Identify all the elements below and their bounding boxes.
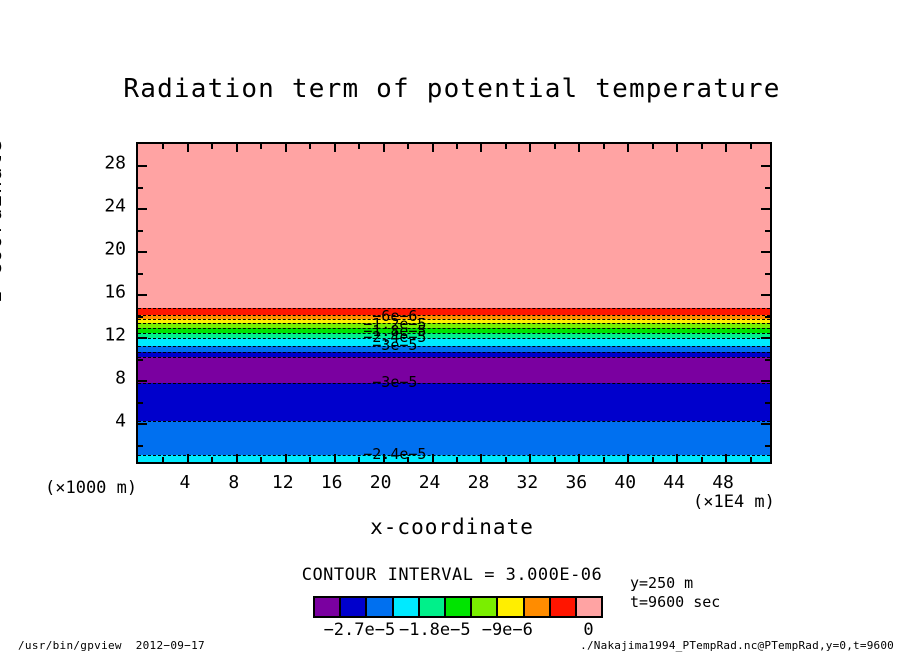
page-title: Radiation term of potential temperature — [0, 74, 904, 104]
x-axis-tick-top — [432, 144, 434, 152]
x-axis-tick-top — [725, 144, 727, 152]
contour-line — [138, 319, 770, 320]
x-axis-tick — [407, 457, 409, 462]
x-tick-label: 44 — [663, 472, 685, 493]
y-axis-tick — [138, 337, 147, 339]
contour-line — [138, 333, 770, 334]
y-axis-tick-right — [761, 380, 770, 382]
y-tick-label: 24 — [88, 196, 126, 217]
colorbar-swatch[interactable] — [551, 598, 577, 616]
x-axis-tick-top — [578, 144, 580, 152]
x-axis-tick-top — [750, 144, 752, 149]
x-axis-tick — [725, 454, 727, 462]
colorbar-swatch[interactable] — [315, 598, 341, 616]
contour-line — [138, 352, 770, 353]
x-axis-tick — [676, 454, 678, 462]
x-axis-tick-top — [285, 144, 287, 152]
y-axis-tick — [138, 294, 147, 296]
colorbar-swatch[interactable] — [577, 598, 601, 616]
y-axis-tick-right — [765, 316, 770, 318]
x-axis-tick-top — [554, 144, 556, 149]
y-tick-label: 12 — [88, 325, 126, 346]
x-tick-label: 40 — [614, 472, 636, 493]
x-tick-label: 36 — [565, 472, 587, 493]
x-axis-tick-top — [603, 144, 605, 149]
x-axis-tick — [383, 454, 385, 462]
x-tick-label: 24 — [419, 472, 441, 493]
x-tick-label: 4 — [180, 472, 191, 493]
x-axis-tick — [187, 454, 189, 462]
x-axis-tick — [309, 457, 311, 462]
x-axis-tick-top — [480, 144, 482, 152]
colorbar-swatch[interactable] — [367, 598, 393, 616]
color-band — [138, 383, 770, 421]
y-axis-tick-right — [761, 423, 770, 425]
colorbar-swatch[interactable] — [341, 598, 367, 616]
y-tick-label: 8 — [88, 368, 126, 389]
y-axis-tick-right — [765, 187, 770, 189]
x-axis-tick-top — [652, 144, 654, 149]
y-axis-tick — [138, 359, 143, 361]
x-axis-tick — [750, 457, 752, 462]
x-tick-label: 32 — [517, 472, 539, 493]
y-tick-label: 16 — [88, 282, 126, 303]
contour-value-label: −2.4e−5 — [363, 445, 426, 463]
contour-line — [138, 328, 770, 329]
x-tick-label: 20 — [370, 472, 392, 493]
x-tick-label: 16 — [321, 472, 343, 493]
y-axis-tick-right — [761, 294, 770, 296]
y-axis-tick-right — [765, 402, 770, 404]
footer-program-info: /usr/bin/gpview 2012−09−17 — [18, 639, 205, 652]
x-tick-label: 12 — [272, 472, 294, 493]
y-axis-tick-right — [761, 251, 770, 253]
x-axis-tick — [285, 454, 287, 462]
x-axis-tick — [162, 457, 164, 462]
y-axis-tick — [138, 445, 143, 447]
contour-line — [138, 315, 770, 316]
y-tick-label: 28 — [88, 153, 126, 174]
y-axis-tick — [138, 402, 143, 404]
footer-program-path: /usr/bin/gpview — [18, 639, 122, 652]
contour-line — [138, 346, 770, 347]
x-axis-tick-top — [260, 144, 262, 149]
x-axis-unit-label: (×1E4 m) — [693, 492, 775, 512]
y-axis-tick — [138, 251, 147, 253]
x-axis-tick — [578, 454, 580, 462]
x-axis-tick-top — [162, 144, 164, 149]
colorbar-swatch[interactable] — [525, 598, 551, 616]
contour-value-label: −3e−5 — [372, 336, 417, 354]
color-band — [138, 357, 770, 384]
footer-date: 2012−09−17 — [136, 639, 205, 652]
x-axis-tick-top — [334, 144, 336, 152]
colorbar-swatch[interactable] — [420, 598, 446, 616]
y-axis-tick — [138, 273, 143, 275]
y-axis-tick — [138, 165, 147, 167]
x-axis-tick — [701, 457, 703, 462]
x-axis-tick-top — [309, 144, 311, 149]
y-axis-tick-right — [765, 273, 770, 275]
y-axis-tick — [138, 208, 147, 210]
colorbar-tick-label: 0 — [583, 620, 593, 640]
color-band — [138, 421, 770, 455]
x-tick-label: 28 — [468, 472, 490, 493]
y-axis-title: z-coordinate — [0, 139, 6, 303]
x-axis-tick-top — [407, 144, 409, 149]
x-axis-tick — [505, 457, 507, 462]
y-axis-tick-right — [761, 165, 770, 167]
x-axis-tick — [432, 454, 434, 462]
x-axis-tick-top — [529, 144, 531, 152]
x-axis-tick — [236, 454, 238, 462]
contour-line — [138, 357, 770, 358]
y-axis-unit-label: (×1000 m) — [45, 478, 137, 498]
x-axis-tick-top — [358, 144, 360, 149]
contour-interval-label: CONTOUR INTERVAL = 3.000E-06 — [0, 565, 904, 585]
y-axis-tick-right — [761, 208, 770, 210]
y-axis-tick-right — [765, 359, 770, 361]
footer-dataset-path: ./Nakajima1994_PTempRad.nc@PTempRad,y=0,… — [580, 639, 894, 652]
x-axis-tick — [529, 454, 531, 462]
x-axis-tick-top — [456, 144, 458, 149]
x-axis-tick — [260, 457, 262, 462]
x-axis-tick-top — [187, 144, 189, 152]
contour-line — [138, 383, 770, 384]
x-axis-tick-top — [627, 144, 629, 152]
x-axis-tick-top — [676, 144, 678, 152]
y-axis-tick — [138, 380, 147, 382]
colorbar-swatch[interactable] — [498, 598, 524, 616]
colorbar-swatch[interactable] — [394, 598, 420, 616]
color-band — [138, 338, 770, 346]
contour-line — [138, 421, 770, 422]
x-tick-label: 48 — [712, 472, 734, 493]
x-axis-tick — [480, 454, 482, 462]
y-axis-tick-right — [765, 230, 770, 232]
contour-plot-area[interactable]: −6e−6−1.2e−5−1.8e−5−2.4e−5−3e−5−3e−5−2.4… — [136, 142, 772, 464]
contour-value-label: −3e−5 — [372, 373, 417, 391]
x-axis-tick — [652, 457, 654, 462]
y-tick-label: 4 — [88, 411, 126, 432]
colorbar-swatch[interactable] — [446, 598, 472, 616]
y-axis-tick — [138, 316, 143, 318]
x-axis-tick — [603, 457, 605, 462]
x-axis-tick-top — [383, 144, 385, 152]
x-axis-tick — [211, 457, 213, 462]
y-tick-label: 20 — [88, 239, 126, 260]
y-axis-tick-right — [765, 445, 770, 447]
annotation-t-value: t=9600 sec — [630, 593, 720, 612]
colorbar-tick-label: −1.8e−5 — [399, 620, 471, 640]
y-axis-tick — [138, 230, 143, 232]
contour-line — [138, 308, 770, 309]
colorbar-tick-label: −9e−6 — [482, 620, 533, 640]
x-axis-tick — [456, 457, 458, 462]
x-axis-tick — [554, 457, 556, 462]
slice-annotation: y=250 m t=9600 sec — [630, 574, 720, 612]
annotation-y-value: y=250 m — [630, 574, 720, 593]
x-tick-label: 8 — [228, 472, 239, 493]
colorbar-tick-label: −2.7e−5 — [324, 620, 396, 640]
x-axis-title: x-coordinate — [0, 515, 904, 539]
y-axis-tick — [138, 187, 143, 189]
y-axis-tick — [138, 423, 147, 425]
x-axis-tick — [334, 454, 336, 462]
colorbar-tick-labels: −2.7e−5−1.8e−5−9e−60 — [313, 620, 603, 642]
color-band — [138, 144, 770, 308]
colorbar[interactable] — [313, 596, 603, 618]
contour-line — [138, 323, 770, 324]
x-axis-tick-top — [505, 144, 507, 149]
x-axis-tick-top — [701, 144, 703, 149]
x-axis-tick — [627, 454, 629, 462]
x-axis-tick-top — [236, 144, 238, 152]
colorbar-swatch[interactable] — [472, 598, 498, 616]
y-axis-tick-right — [761, 337, 770, 339]
x-axis-tick-top — [211, 144, 213, 149]
contour-line — [138, 338, 770, 339]
x-axis-tick — [358, 457, 360, 462]
